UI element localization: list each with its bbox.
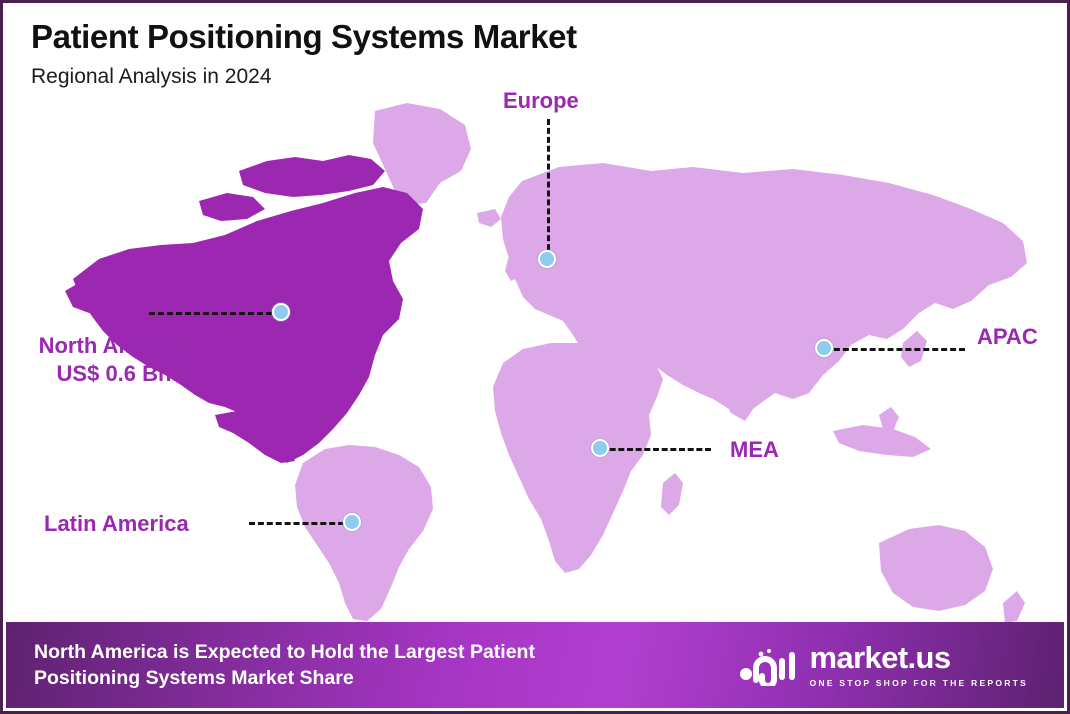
map-highlight-region [65,155,423,463]
market-us-logo-icon [739,644,797,686]
map-marker-apac[interactable] [815,339,833,357]
connector-europe [547,119,550,259]
connector-apac [825,348,965,351]
region-name-latin-america: Latin America [44,511,189,536]
region-new-zealand [1003,591,1025,623]
banner-headline: North America is Expected to Hold the La… [34,639,535,692]
market-us-logo[interactable]: market.us ONE STOP SHOP FOR THE REPORTS [739,642,1028,688]
map-marker-north-america[interactable] [272,303,290,321]
region-label-europe: Europe [503,87,579,115]
map-marker-latin-america[interactable] [343,513,361,531]
region-name-mea: MEA [730,437,779,462]
region-canadian-arctic [239,155,385,197]
region-label-mea: MEA [730,436,779,464]
region-name-apac: APAC [977,324,1038,349]
region-madagascar [661,473,683,515]
footer-banner: North America is Expected to Hold the La… [6,622,1064,708]
connector-north-america [149,312,281,315]
region-label-latin-america: Latin America [44,510,189,538]
region-label-north-america: North America US$ 0.6 Bn [21,332,207,387]
logo-tagline: ONE STOP SHOP FOR THE REPORTS [809,678,1028,688]
region-arctic-island-2 [199,193,265,221]
connector-mea [601,448,711,451]
region-india [719,369,759,421]
region-value-north-america: US$ 0.6 Bn [21,360,207,388]
region-south-america [295,445,433,621]
region-name-north-america: North America [39,333,190,358]
map-marker-europe[interactable] [538,250,556,268]
banner-headline-line-1: North America is Expected to Hold the La… [34,639,535,665]
page-title: Patient Positioning Systems Market [31,19,577,55]
region-name-europe: Europe [503,88,579,113]
infographic-canvas: Patient Positioning Systems Market Regio… [0,0,1070,714]
banner-headline-line-2: Positioning Systems Market Share [34,665,535,691]
region-label-apac: APAC [977,323,1038,351]
region-philippines [879,407,899,431]
region-africa [493,343,663,573]
region-iceland [477,209,501,227]
region-southeast-asia [833,425,931,457]
logo-wordmark: market.us ONE STOP SHOP FOR THE REPORTS [809,642,1028,688]
header: Patient Positioning Systems Market Regio… [31,19,577,89]
connector-latin-america [249,522,353,525]
logo-name: market.us [809,642,950,673]
region-australia [879,525,993,611]
map-marker-mea[interactable] [591,439,609,457]
page-subtitle: Regional Analysis in 2024 [31,65,577,89]
